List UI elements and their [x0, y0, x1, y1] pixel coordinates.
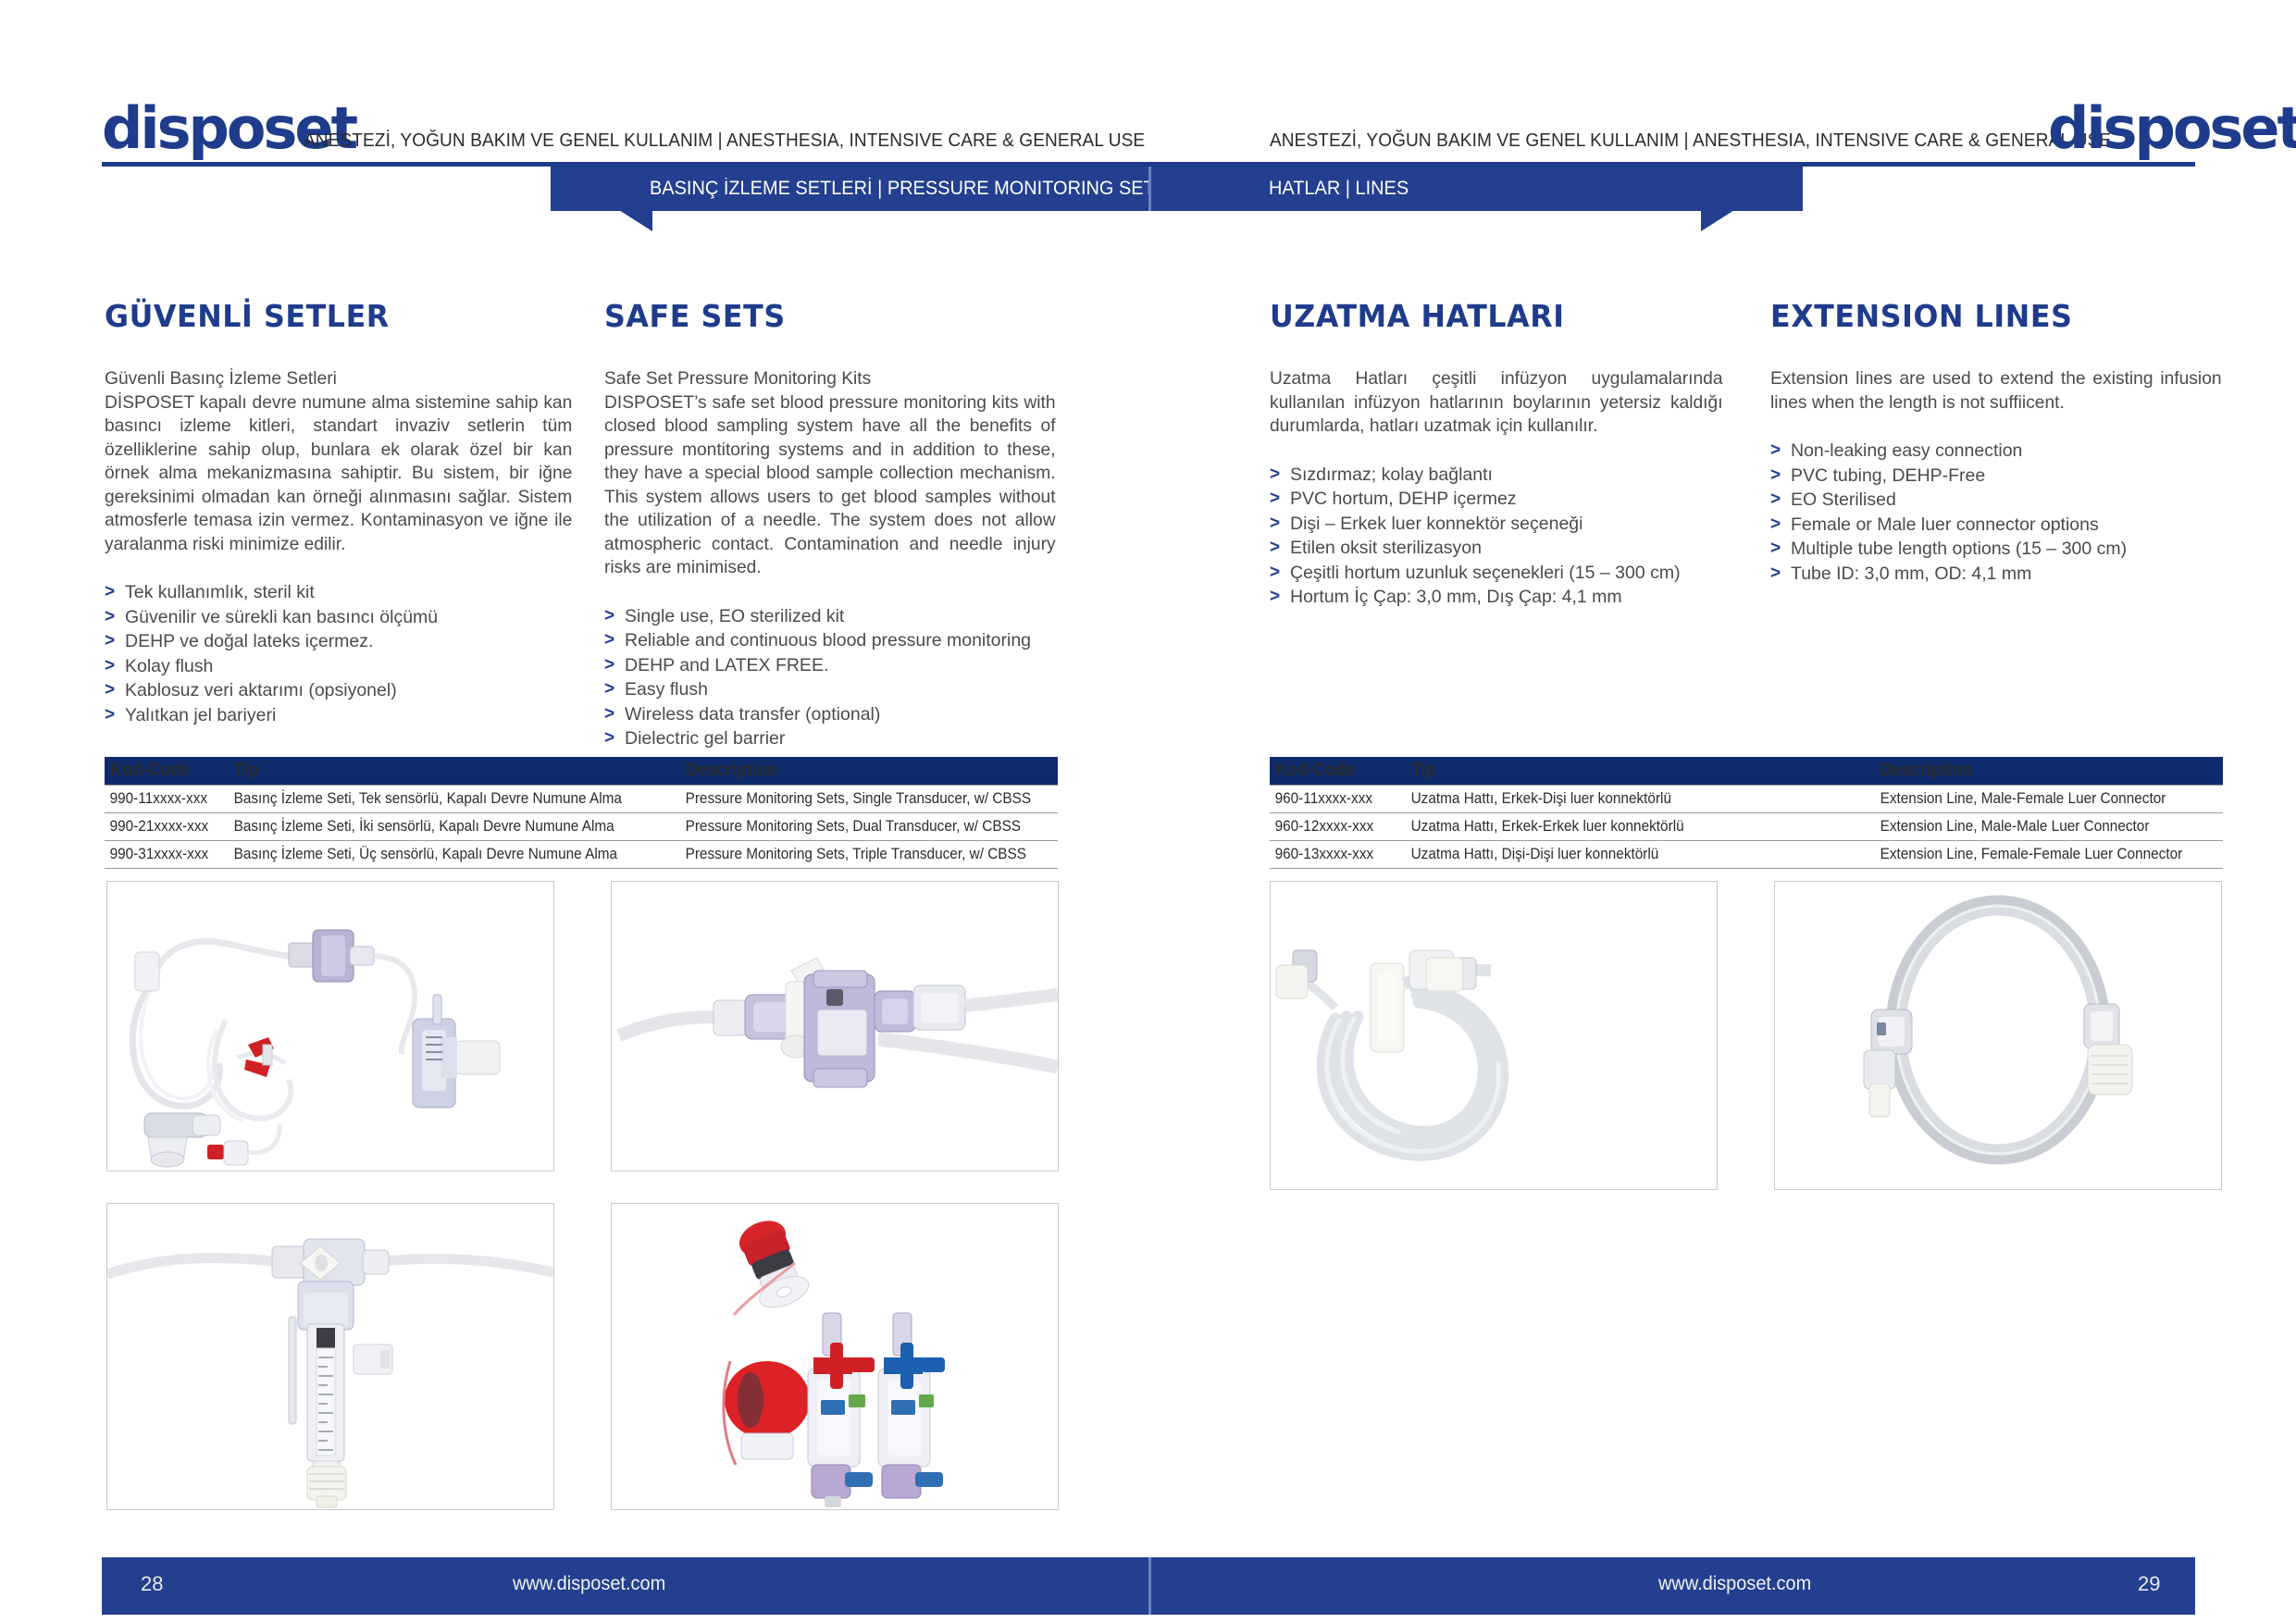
chevron-right-icon: >	[105, 678, 115, 703]
chevron-right-icon: >	[604, 726, 614, 751]
list-item-label: Wireless data transfer (optional)	[625, 704, 880, 725]
product-illustration	[107, 1204, 553, 1509]
list-item: >Tek kullanımlık, steril kit	[105, 580, 579, 605]
column-4-title: EXTENSION LINES	[1770, 298, 2210, 334]
photo-safe-set-blood-sampling-manifold	[611, 1203, 1059, 1510]
list-item-label: Reliable and continuous blood pressure m…	[625, 630, 1031, 650]
list-item: >Dişi – Erkek luer konnektör seçeneği	[1270, 512, 1730, 537]
column-1-feature-list: >Tek kullanımlık, steril kit >Güvenilir …	[105, 580, 579, 727]
chevron-right-icon: >	[1770, 464, 1781, 489]
column-3-body: Uzatma Hatları çeşitli infüzyon uygulama…	[1270, 367, 1723, 439]
column-3-feature-list: >Sızdırmaz; kolay bağlantı >PVC hortum, …	[1270, 463, 1730, 610]
chevron-right-icon: >	[1270, 561, 1280, 586]
list-item: >Hortum İç Çap: 3,0 mm, Dış Çap: 4,1 mm	[1270, 585, 1730, 610]
chevron-right-icon: >	[105, 580, 115, 605]
chevron-right-icon: >	[105, 703, 115, 728]
chevron-right-icon: >	[604, 628, 614, 653]
column-guvenli-setler: GÜVENLİ SETLER Güvenli Basınç İzleme Set…	[105, 298, 579, 727]
list-item: >Wireless data transfer (optional)	[604, 702, 1062, 727]
list-item-label: Etilen oksit sterilizasyon	[1290, 538, 1482, 558]
list-item-label: Non-leaking easy connection	[1791, 440, 2022, 461]
chevron-right-icon: >	[604, 677, 614, 702]
table-header-cell: Description	[680, 757, 1038, 785]
photo-pressure-monitoring-set-flush-device	[106, 1203, 554, 1510]
chevron-right-icon: >	[604, 653, 614, 678]
photo-pressure-monitoring-set-closeup-stopcock	[611, 881, 1059, 1171]
list-item: >Single use, EO sterilized kit	[604, 604, 1062, 629]
list-item: >PVC hortum, DEHP içermez	[1270, 487, 1730, 512]
product-illustration	[1271, 882, 1717, 1189]
product-illustration	[612, 1204, 1058, 1509]
table-cell-code: 990-11xxxx-xxx	[105, 785, 220, 812]
brand-logo-right: disposet	[2048, 100, 2296, 157]
table-row: 990-31xxxx-xxx Basınç İzleme Seti, Üç se…	[105, 840, 1058, 868]
product-illustration	[1775, 882, 2221, 1189]
table-cell-code: 960-12xxxx-xxx	[1270, 812, 1396, 840]
list-item: >Tube ID: 3,0 mm, OD: 4,1 mm	[1770, 562, 2228, 587]
table-row: 960-11xxxx-xxx Uzatma Hattı, Erkek-Dişi …	[1270, 785, 2223, 812]
column-4-feature-list: >Non-leaking easy connection >PVC tubing…	[1770, 439, 2228, 586]
table-header-row: Kod-Code Tip Description	[105, 757, 1058, 785]
list-item-label: Dielectric gel barrier	[625, 728, 785, 749]
list-item: >Etilen oksit sterilizasyon	[1270, 536, 1730, 561]
column-2-body: DISPOSET’s safe set blood pressure monit…	[604, 391, 1056, 580]
chevron-right-icon: >	[1270, 463, 1280, 488]
footer-url-right[interactable]: www.disposet.com	[1658, 1573, 1811, 1595]
list-item-label: Single use, EO sterilized kit	[625, 606, 844, 626]
table-cell-tip: Basınç İzleme Seti, Tek sensörlü, Kapalı…	[229, 785, 649, 812]
column-2-title: SAFE SETS	[604, 298, 1044, 334]
table-header-row: Kod-Code Tip Description	[1270, 757, 2223, 785]
chevron-right-icon: >	[1270, 487, 1280, 512]
table-header-cell: Kod-Code	[105, 757, 223, 785]
table-row: 990-21xxxx-xxx Basınç İzleme Seti, İki s…	[105, 812, 1058, 840]
table-cell-description: Pressure Monitoring Sets, Triple Transdu…	[680, 840, 1031, 868]
list-item-label: Tek kullanımlık, steril kit	[125, 582, 315, 602]
column-1-title: GÜVENLİ SETLER	[105, 298, 560, 334]
column-4-body: Extension lines are used to extend the e…	[1770, 367, 2222, 415]
column-extension-lines: EXTENSION LINES Extension lines are used…	[1770, 298, 2228, 586]
tab-right-label[interactable]: HATLAR | LINES	[1269, 178, 1409, 200]
page-footer: 28 www.disposet.com www.disposet.com 29	[102, 1557, 2195, 1615]
list-item-label: Multiple tube length options (15 – 300 c…	[1791, 539, 2127, 559]
table-cell-tip: Uzatma Hattı, Erkek-Erkek luer konnektör…	[1406, 812, 1842, 840]
column-2-feature-list: >Single use, EO sterilized kit >Reliable…	[604, 604, 1062, 751]
photo-pressure-monitoring-set-single-transducer	[106, 881, 554, 1171]
list-item: >PVC tubing, DEHP-Free	[1770, 464, 2228, 489]
table-cell-description: Extension Line, Female-Female Luer Conne…	[1875, 840, 2199, 868]
section-tab-bar: BASINÇ İZLEME SETLERİ | PRESSURE MONITOR…	[0, 167, 2296, 231]
list-item-label: Çeşitli hortum uzunluk seçenekleri (15 –…	[1290, 563, 1681, 583]
table-cell-code: 960-11xxxx-xxx	[1270, 785, 1396, 812]
footer-url-left[interactable]: www.disposet.com	[513, 1573, 665, 1595]
list-item-label: Tube ID: 3,0 mm, OD: 4,1 mm	[1791, 564, 2031, 584]
chevron-right-icon: >	[604, 604, 614, 629]
list-item: >Yalıtkan jel bariyeri	[105, 703, 579, 728]
chevron-right-icon: >	[105, 629, 115, 654]
chevron-right-icon: >	[1270, 536, 1280, 561]
list-item-label: Güvenilir ve sürekli kan basıncı ölçümü	[125, 607, 438, 627]
product-illustration	[612, 882, 1058, 1171]
table-cell-tip: Uzatma Hattı, Dişi-Dişi luer konnektörlü	[1406, 840, 1842, 868]
column-uzatma-hatlari: UZATMA HATLARI Uzatma Hatları çeşitli in…	[1270, 298, 1730, 610]
column-1-subtitle: Güvenli Basınç İzleme Setleri	[105, 367, 572, 391]
list-item: >DEHP ve doğal lateks içermez.	[105, 629, 579, 654]
chevron-right-icon: >	[1270, 512, 1280, 537]
table-cell-description: Extension Line, Male-Male Luer Connector	[1875, 812, 2199, 840]
chevron-right-icon: >	[1770, 562, 1781, 587]
list-item-label: EO Sterilised	[1791, 489, 1896, 510]
product-illustration	[107, 882, 553, 1171]
list-item-label: Yalıtkan jel bariyeri	[125, 705, 276, 725]
page-header: disposet ANESTEZİ, YOĞUN BAKIM VE GENEL …	[0, 0, 2296, 165]
chevron-right-icon: >	[105, 605, 115, 630]
list-item-label: Sızdırmaz; kolay bağlantı	[1290, 465, 1493, 485]
list-item-label: Dişi – Erkek luer konnektör seçeneği	[1290, 514, 1583, 534]
photo-extension-line-coiled-tubing	[1270, 881, 1718, 1190]
table-cell-code: 990-31xxxx-xxx	[105, 840, 220, 868]
photo-extension-line-luer-connectors	[1774, 881, 2222, 1190]
footer-spine-divider	[1148, 1557, 1151, 1615]
list-item-label: PVC tubing, DEHP-Free	[1791, 465, 1985, 486]
list-item-label: Kolay flush	[125, 656, 213, 676]
list-item: >EO Sterilised	[1770, 488, 2228, 513]
tab-spine-divider	[1148, 167, 1151, 211]
list-item: >Sızdırmaz; kolay bağlantı	[1270, 463, 1730, 488]
table-row: 990-11xxxx-xxx Basınç İzleme Seti, Tek s…	[105, 785, 1058, 812]
chevron-right-icon: >	[1770, 488, 1781, 513]
table-cell-tip: Basınç İzleme Seti, İki sensörlü, Kapalı…	[229, 812, 649, 840]
header-subtitle-right: ANESTEZİ, YOĞUN BAKIM VE GENEL KULLANIM …	[1270, 130, 2111, 152]
product-table-right: Kod-Code Tip Description 960-11xxxx-xxx …	[1270, 757, 2223, 869]
column-3-title: UZATMA HATLARI	[1270, 298, 1711, 334]
list-item: >Kablosuz veri aktarımı (opsiyonel)	[105, 678, 579, 703]
list-item-label: DEHP ve doğal lateks içermez.	[125, 631, 373, 651]
table-cell-description: Pressure Monitoring Sets, Single Transdu…	[680, 785, 1031, 812]
chevron-right-icon: >	[604, 702, 614, 727]
table-header-cell: Kod-Code	[1270, 757, 1399, 785]
list-item: >Güvenilir ve sürekli kan basıncı ölçümü	[105, 605, 579, 630]
table-cell-tip: Basınç İzleme Seti, Üç sensörlü, Kapalı …	[229, 840, 649, 868]
list-item: >Dielectric gel barrier	[604, 726, 1062, 751]
list-item: >Easy flush	[604, 677, 1062, 702]
table-cell-tip: Uzatma Hattı, Erkek-Dişi luer konnektörl…	[1406, 785, 1842, 812]
list-item-label: Kablosuz veri aktarımı (opsiyonel)	[125, 680, 397, 700]
tab-left-label[interactable]: BASINÇ İZLEME SETLERİ | PRESSURE MONITOR…	[650, 178, 1167, 200]
chevron-right-icon: >	[1770, 537, 1781, 562]
header-subtitle-left: ANESTEZİ, YOĞUN BAKIM VE GENEL KULLANIM …	[304, 130, 1145, 152]
list-item-label: PVC hortum, DEHP içermez	[1290, 489, 1517, 509]
list-item-label: Hortum İç Çap: 3,0 mm, Dış Çap: 4,1 mm	[1290, 587, 1622, 607]
table-cell-code: 960-13xxxx-xxx	[1270, 840, 1396, 868]
list-item-label: Female or Male luer connector options	[1791, 514, 2099, 535]
list-item: >Female or Male luer connector options	[1770, 513, 2228, 538]
chevron-right-icon: >	[105, 654, 115, 679]
table-header-cell: Tip	[1406, 757, 1851, 785]
catalog-page-spread: disposet ANESTEZİ, YOĞUN BAKIM VE GENEL …	[0, 0, 2296, 1623]
tab-left-tail-icon	[551, 167, 652, 231]
list-item: >Kolay flush	[105, 654, 579, 679]
column-1-body: DİSPOSET kapalı devre numune alma sistem…	[105, 391, 572, 557]
tab-right-tail-icon	[1701, 167, 1803, 231]
table-row: 960-12xxxx-xxx Uzatma Hattı, Erkek-Erkek…	[1270, 812, 2223, 840]
table-cell-code: 990-21xxxx-xxx	[105, 812, 220, 840]
table-header-cell: Tip	[229, 757, 658, 785]
list-item-label: DEHP and LATEX FREE.	[625, 655, 828, 675]
table-cell-description: Pressure Monitoring Sets, Dual Transduce…	[680, 812, 1031, 840]
chevron-right-icon: >	[1770, 513, 1781, 538]
table-row: 960-13xxxx-xxx Uzatma Hattı, Dişi-Dişi l…	[1270, 840, 2223, 868]
chevron-right-icon: >	[1770, 439, 1781, 464]
list-item: >Non-leaking easy connection	[1770, 439, 2228, 464]
product-table-left: Kod-Code Tip Description 990-11xxxx-xxx …	[105, 757, 1058, 869]
footer-page-number-right: 29	[2138, 1572, 2160, 1596]
table-header-cell: Description	[1875, 757, 2206, 785]
chevron-right-icon: >	[1270, 585, 1280, 610]
column-2-subtitle: Safe Set Pressure Monitoring Kits	[604, 367, 1056, 391]
list-item: >Multiple tube length options (15 – 300 …	[1770, 537, 2228, 562]
list-item: >Çeşitli hortum uzunluk seçenekleri (15 …	[1270, 561, 1730, 586]
column-safe-sets: SAFE SETS Safe Set Pressure Monitoring K…	[604, 298, 1062, 751]
footer-page-number-left: 28	[141, 1572, 163, 1596]
list-item-label: Easy flush	[625, 679, 708, 700]
list-item: >DEHP and LATEX FREE.	[604, 653, 1062, 678]
list-item: >Reliable and continuous blood pressure …	[604, 628, 1062, 653]
table-cell-description: Extension Line, Male-Female Luer Connect…	[1875, 785, 2199, 812]
